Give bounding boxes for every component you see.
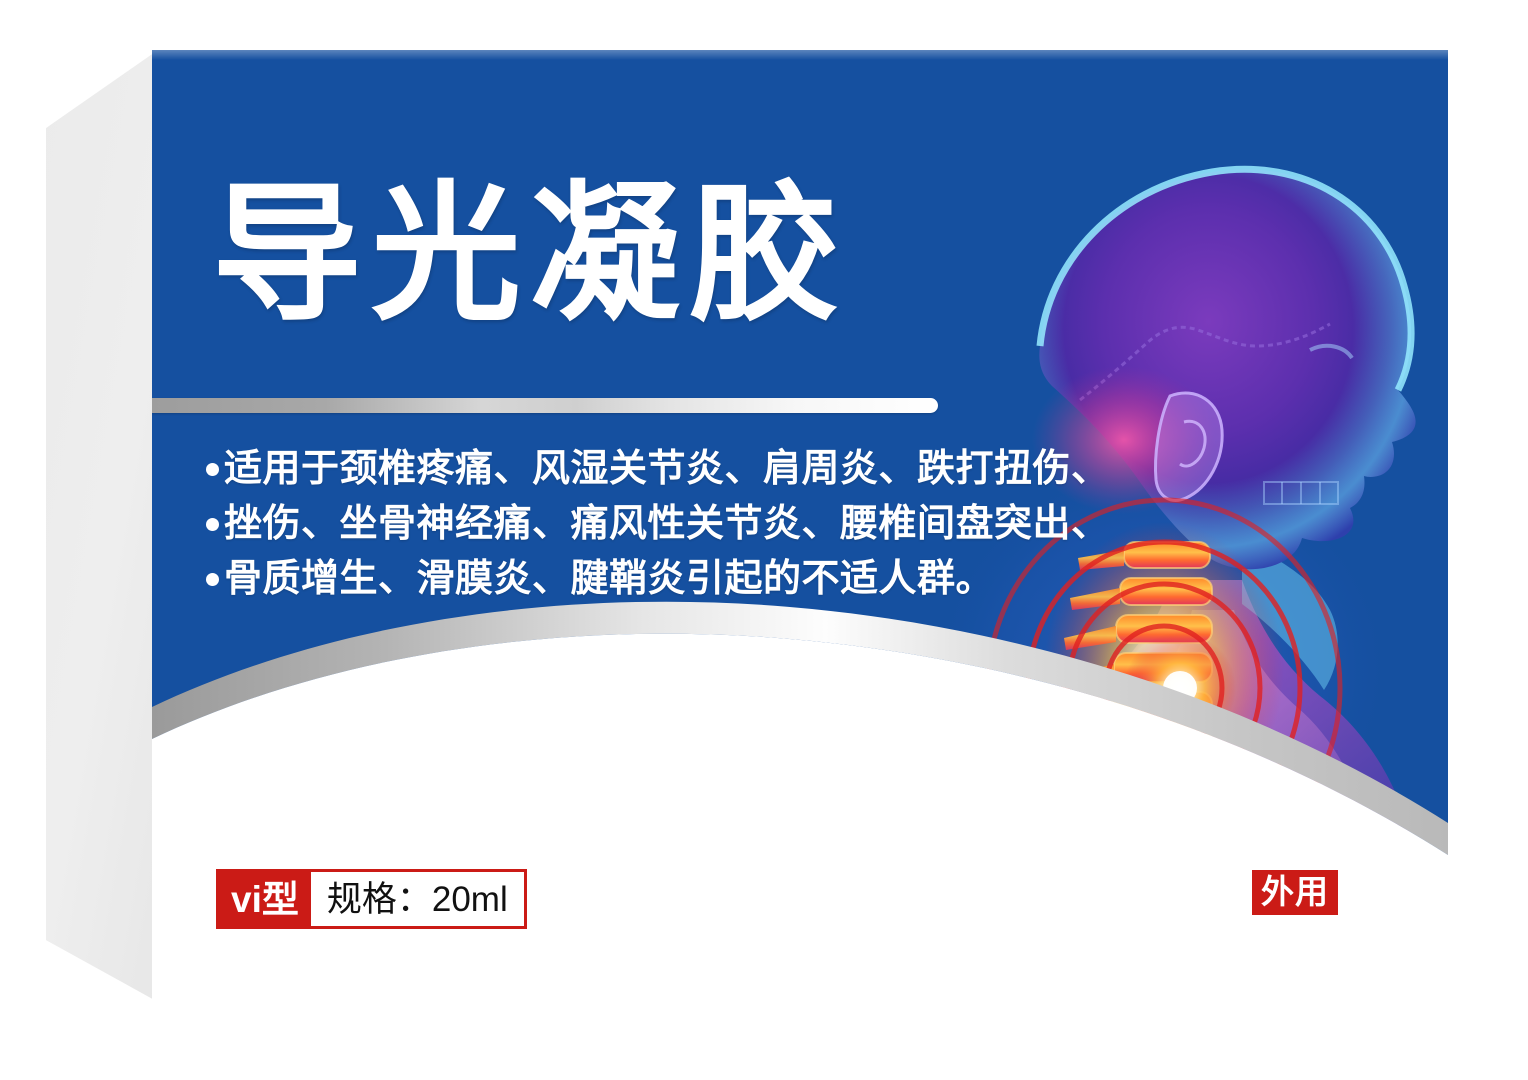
spec-badge: vi型 规格：20ml [216,869,527,929]
indication-text: 挫伤、坐骨神经痛、痛风性关节炎、腰椎间盘突出、 [224,497,1110,552]
bullet-dot-icon [206,463,219,476]
wave-divider [152,587,1448,1007]
product-package-scene: 导光凝胶 适用于颈椎疼痛、风湿关节炎、肩周炎、跌打扭伤、 挫伤、坐骨神经痛、痛风… [0,0,1528,1080]
box-front-face: 导光凝胶 适用于颈椎疼痛、风湿关节炎、肩周炎、跌打扭伤、 挫伤、坐骨神经痛、痛风… [152,50,1448,1007]
indication-list: 适用于颈椎疼痛、风湿关节炎、肩周炎、跌打扭伤、 挫伤、坐骨神经痛、痛风性关节炎、… [206,442,1046,607]
indication-text: 适用于颈椎疼痛、风湿关节炎、肩周炎、跌打扭伤、 [224,442,1110,497]
external-use-badge: 外用 [1252,870,1338,915]
bullet-dot-icon [206,573,219,586]
title-underline-bar [152,398,938,413]
spec-type-label: vi型 [219,872,311,926]
bullet-dot-icon [206,518,219,531]
spec-volume-label: 规格：20ml [311,872,524,926]
box-side-panel [46,50,158,1002]
list-item: 适用于颈椎疼痛、风湿关节炎、肩周炎、跌打扭伤、 [206,442,1046,497]
product-title: 导光凝胶 [212,170,848,338]
list-item: 挫伤、坐骨神经痛、痛风性关节炎、腰椎间盘突出、 [206,497,1046,552]
front-top-highlight [152,50,1448,60]
